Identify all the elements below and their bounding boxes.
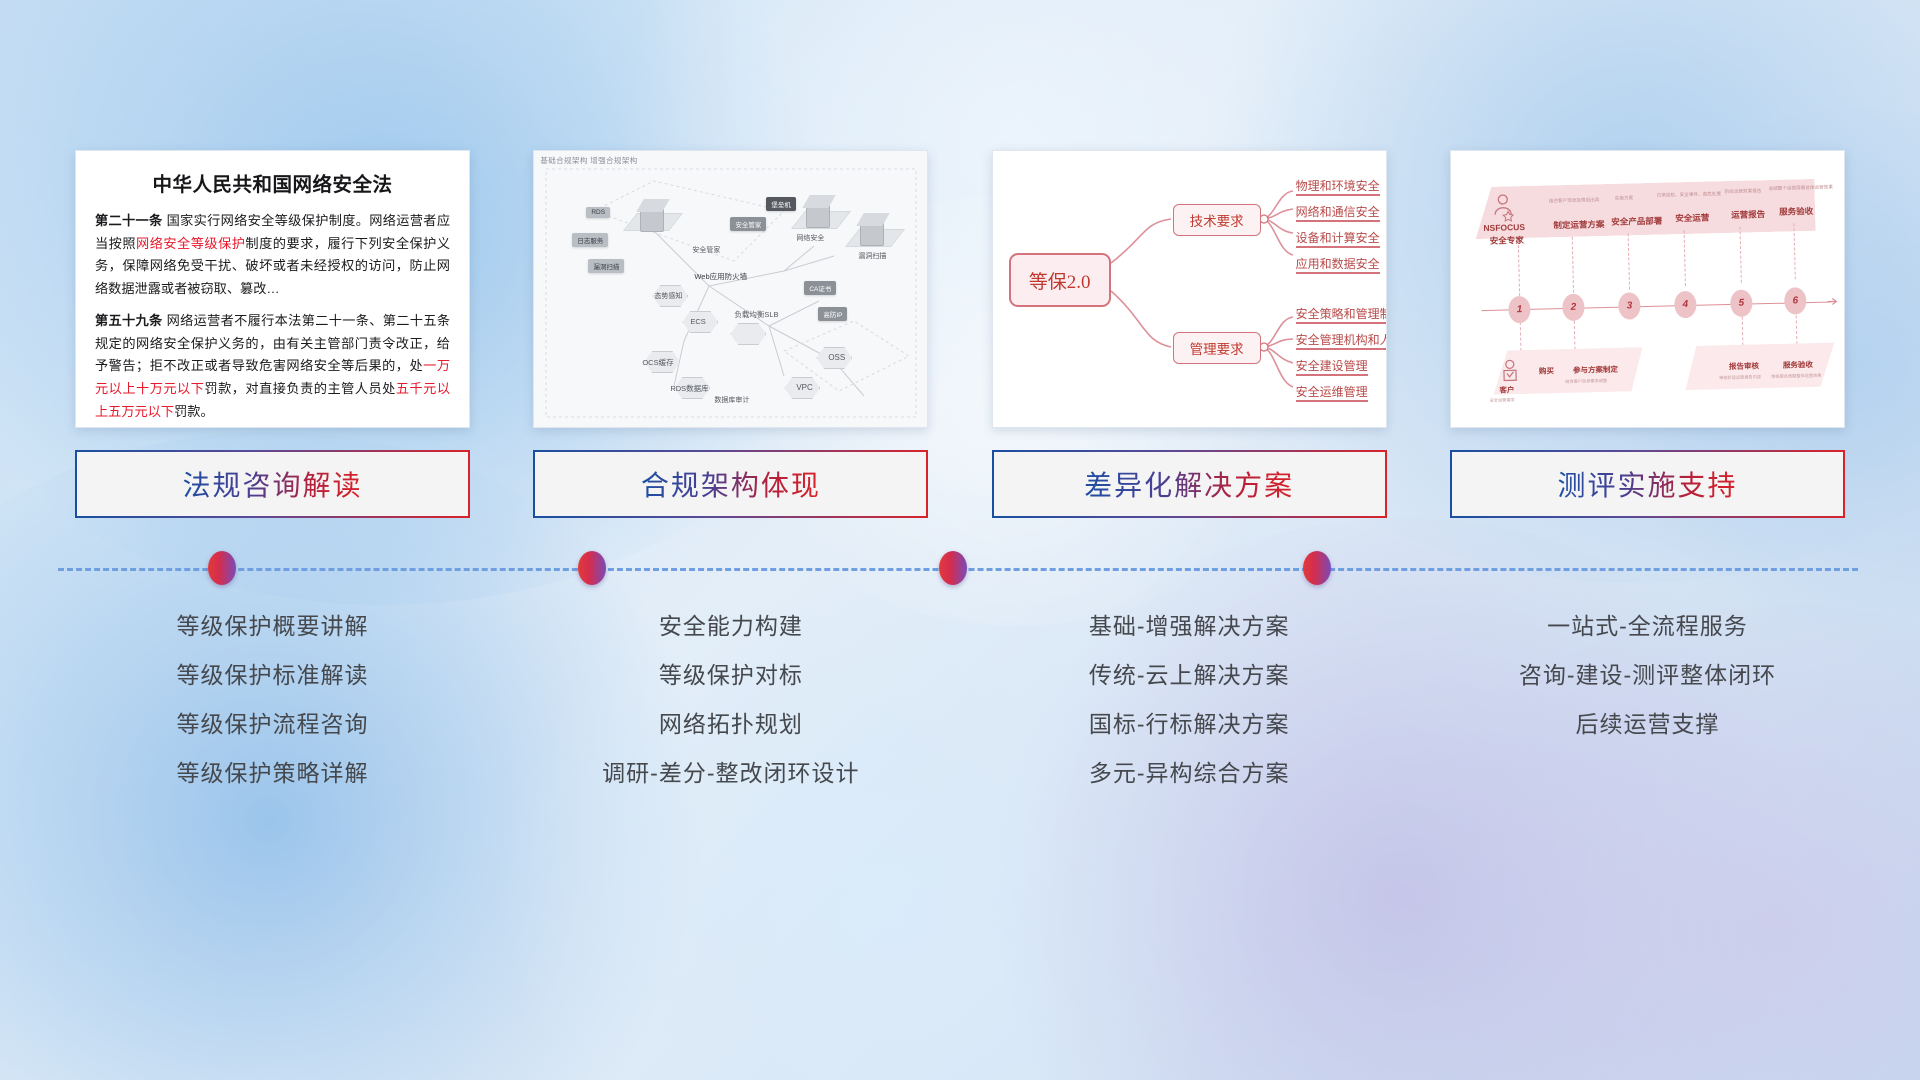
nsfocus-bottom-sub-2: 结合客户自身需求调整: [1565, 378, 1607, 385]
banner-label-4: 测评实施支持: [1557, 464, 1737, 504]
customer-avatar-icon: [1501, 358, 1522, 382]
mindmap-branch-technical: 技术要求: [1173, 204, 1261, 236]
banner-label-3: 差异化解决方案: [1084, 464, 1294, 504]
nsfocus-bottom-sub-3: 审核阶段运营报告内容: [1719, 374, 1761, 381]
mindmap-leaf-device-compute: 设备和计算安全: [1296, 229, 1380, 248]
customer-sub-label: 安全运营需求: [1490, 397, 1515, 404]
timeline-node-6: 6: [1784, 287, 1807, 315]
law-article-21: 第二十一条 国家实行网络安全等级保护制度。网络运营者应当按照网络安全等级保护制度…: [95, 210, 450, 301]
timeline-marker-1: [208, 551, 236, 585]
arch-label-vpc: VPC: [796, 383, 812, 392]
list-item: 等级保护策略详解: [75, 752, 470, 801]
list-item: 咨询-建设-测评整体闭环: [1450, 654, 1845, 703]
law-article-21-highlight: 网络安全等级保护: [136, 236, 245, 251]
nsfocus-top-title-5: 服务验收: [1779, 205, 1813, 218]
nsfocus-bottom-sub-4: 审核服务周期整体运营效果: [1771, 373, 1821, 380]
timeline-marker-4: [1303, 551, 1331, 585]
law-article-59: 第五十九条 网络运营者不履行本法第二十一条、第二十五条规定的网络安全保护义务的，…: [95, 310, 450, 424]
detail-list-3: 基础-增强解决方案 传统-云上解决方案 国标-行标解决方案 多元-异构综合方案: [992, 605, 1387, 801]
arch-label-db-audit: 数据库审计: [714, 395, 749, 405]
list-item: 等级保护概要讲解: [75, 605, 470, 654]
mindmap-leaf-network-comm: 网络和通信安全: [1296, 203, 1380, 222]
banner-label-2: 合规架构体现: [641, 464, 821, 504]
list-item: 等级保护流程咨询: [75, 703, 470, 752]
timeline-node-5: 5: [1730, 289, 1753, 317]
list-item: 等级保护对标: [533, 654, 928, 703]
card-compliance-architecture: 基础合规架构 增强合规架构: [533, 150, 928, 428]
mindmap-leaf-policy-system: 安全策略和管理制度: [1296, 305, 1387, 324]
mindmap-leaf-ops-mgmt: 安全运维管理: [1296, 383, 1368, 402]
arch-label-network-security: 网络安全: [796, 233, 824, 243]
timeline-arrow-icon: [1827, 295, 1839, 307]
arch-label-oss: OSS: [828, 353, 845, 362]
arch-label-waf: Web应用防火墙: [694, 271, 747, 282]
arch-label-gateway: 安全管家: [692, 245, 720, 255]
list-item: 等级保护标准解读: [75, 654, 470, 703]
mindmap-leaf-app-data: 应用和数据安全: [1296, 255, 1380, 274]
nsfocus-bottom-title-2: 参与方案制定: [1573, 364, 1618, 376]
list-item: 安全能力构建: [533, 605, 928, 654]
arch-chip-vuln-scan: 漏洞扫描: [588, 259, 624, 273]
mindmap-leaf-physical-env: 物理和环境安全: [1296, 177, 1380, 196]
mindmap-leaf-build-mgmt: 安全建设管理: [1296, 357, 1368, 376]
nsfocus-top-title-4: 运营报告: [1731, 208, 1765, 221]
timeline-node-3: 3: [1618, 292, 1641, 320]
list-item: 网络拓扑规划: [533, 703, 928, 752]
law-title: 中华人民共和国网络安全法: [95, 168, 450, 197]
law-article-59-text-c: 罚款。: [174, 404, 214, 419]
banner-evaluation-support[interactable]: 测评实施支持: [1450, 450, 1845, 518]
arch-connector-lines: [534, 151, 928, 428]
arch-label-ocs: OCS缓存: [642, 357, 673, 368]
banner-regulation-consulting[interactable]: 法规咨询解读: [75, 450, 470, 518]
customer-label: 客户: [1499, 384, 1514, 395]
arch-label-pc-protect: 漏洞扫描: [858, 251, 886, 261]
mindmap-branch-management: 管理要求: [1173, 332, 1261, 364]
nsfocus-brand: NSFOCUS: [1483, 222, 1525, 233]
card-nsfocus-process: NSFOCUS 安全专家 结合客户现状及限后出具 制定运营方案 实施方案 安全产…: [1450, 150, 1845, 428]
list-item: 一站式-全流程服务: [1450, 605, 1845, 654]
arch-chip-rds: RDS: [586, 207, 610, 218]
banner-label-1: 法规咨询解读: [182, 464, 362, 504]
arch-chip-log: 日志服务: [572, 233, 608, 247]
detail-list-1: 等级保护概要讲解 等级保护标准解读 等级保护流程咨询 等级保护策略详解: [75, 605, 470, 801]
banner-compliance-architecture[interactable]: 合规架构体现: [533, 450, 928, 518]
nsfocus-top-title-2: 安全产品部署: [1611, 215, 1662, 228]
image-card-row: 中华人民共和国网络安全法 第二十一条 国家实行网络安全等级保护制度。网络运营者应…: [0, 150, 1920, 450]
list-item: 调研-差分-整改闭环设计: [533, 752, 928, 801]
arch-label-rdsdb: RDS数据库: [670, 383, 708, 394]
arch-chip-hdip: 高防IP: [818, 307, 847, 321]
arch-label-slb: 负载均衡SLB: [734, 309, 778, 320]
timeline-marker-3: [939, 551, 967, 585]
list-item: 后续运营支撑: [1450, 703, 1845, 752]
arch-chip-ca: CA证书: [804, 281, 836, 295]
nsfocus-top-sub-5: 总结整个运营周期总体运营效果: [1769, 184, 1833, 192]
expert-avatar-icon: [1491, 192, 1516, 223]
law-article-59-text-b: 罚款，对直接负责的主管人员处: [204, 381, 395, 396]
nsfocus-bottom-title-1: 购买: [1539, 365, 1554, 376]
detail-list-2: 安全能力构建 等级保护对标 网络拓扑规划 调研-差分-整改闭环设计: [533, 605, 928, 801]
nsfocus-top-title-1: 制定运营方案: [1553, 218, 1604, 231]
banner-row: 法规咨询解读 合规架构体现 差异化解决方案 测评实施支持: [0, 450, 1920, 520]
law-article-21-label: 第二十一条: [95, 213, 163, 228]
timeline-node-4: 4: [1674, 291, 1697, 319]
arch-chip-castle: 堡垒机: [766, 197, 796, 211]
timeline-node-2: 2: [1562, 294, 1585, 322]
nsfocus-top-sub-4: 阶段运营效果报告: [1725, 188, 1762, 195]
nsfocus-top-sub-1: 结合客户现状及限后出具: [1549, 197, 1600, 204]
nsfocus-top-title-3: 安全运营: [1675, 211, 1709, 224]
banner-differentiated-solution[interactable]: 差异化解决方案: [992, 450, 1387, 518]
nsfocus-bottom-title-4: 服务验收: [1783, 359, 1813, 371]
list-item: 传统-云上解决方案: [992, 654, 1387, 703]
nsfocus-top-sub-2: 实施方案: [1615, 195, 1634, 201]
list-item: 多元-异构综合方案: [992, 752, 1387, 801]
arch-chip-security-manager: 安全管家: [730, 217, 766, 231]
mindmap-root: 等保2.0: [1009, 253, 1111, 307]
card-mind-map: 等保2.0 技术要求 物理和环境安全 网络和通信安全 设备和计算安全 应用和数据…: [992, 150, 1387, 428]
list-item: 国标-行标解决方案: [992, 703, 1387, 752]
timeline-marker-2: [578, 551, 606, 585]
card-cybersecurity-law: 中华人民共和国网络安全法 第二十一条 国家实行网络安全等级保护制度。网络运营者应…: [75, 150, 470, 428]
detail-list-row: 等级保护概要讲解 等级保护标准解读 等级保护流程咨询 等级保护策略详解 安全能力…: [0, 605, 1920, 801]
arch-label-ecs: ECS: [690, 317, 705, 326]
arch-label-situation: 态势感知: [654, 291, 682, 301]
mindmap-leaf-org-personnel: 安全管理机构和人员: [1296, 331, 1387, 350]
list-item: 基础-增强解决方案: [992, 605, 1387, 654]
nsfocus-bottom-title-3: 报告审核: [1729, 360, 1759, 372]
law-article-59-label: 第五十九条: [95, 313, 163, 328]
detail-list-4: 一站式-全流程服务 咨询-建设-测评整体闭环 后续运营支撑: [1450, 605, 1845, 801]
timeline-node-1: 1: [1508, 296, 1531, 324]
